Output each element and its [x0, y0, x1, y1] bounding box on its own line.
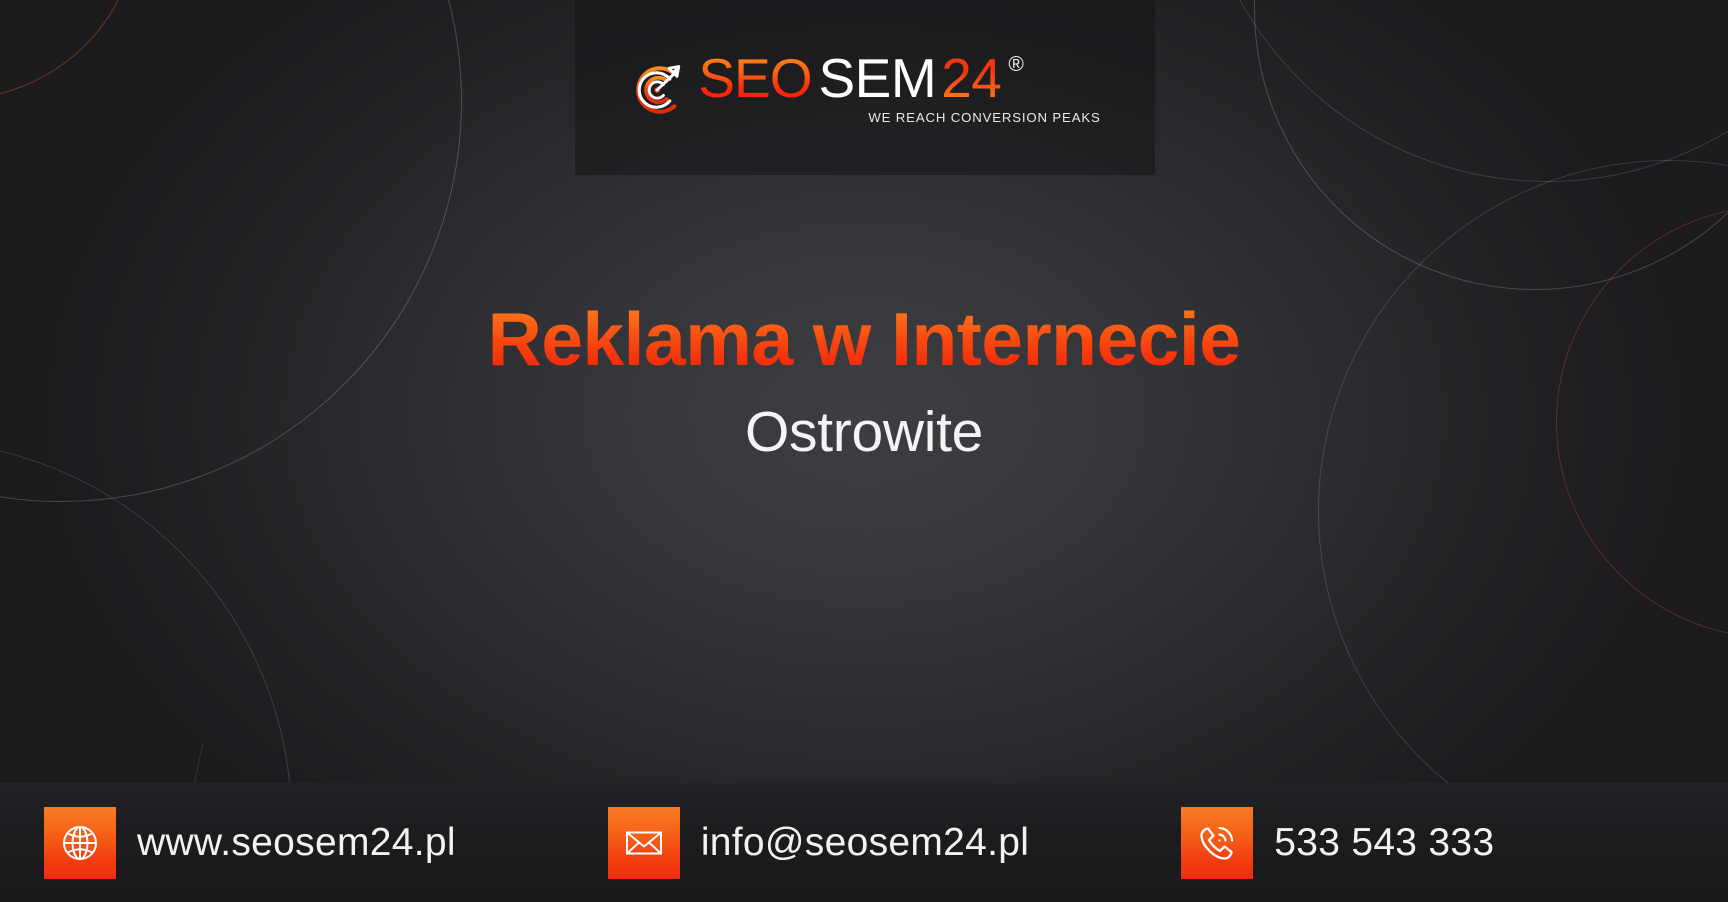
background-circle-decoration: [1254, 0, 1728, 290]
globe-icon: [44, 807, 116, 879]
email-label: info@seosem24.pl: [701, 821, 1029, 865]
logo-tagline: WE REACH CONVERSION PEAKS: [868, 110, 1100, 125]
website-label: www.seosem24.pl: [137, 821, 456, 865]
logo-wordmark: SEO SEM 24 ® WE REACH CONVERSION PEAKS: [698, 51, 1100, 125]
logo-primary-line: SEO SEM 24 ®: [698, 51, 1024, 106]
registered-trademark-icon: ®: [1008, 54, 1023, 75]
envelope-icon: [608, 807, 680, 879]
contact-footer-bar: www.seosem24.pl info@seosem24.pl: [0, 783, 1728, 902]
contact-item-website[interactable]: www.seosem24.pl: [44, 807, 456, 879]
logo-panel: SEO SEM 24 ® WE REACH CONVERSION PEAKS: [575, 0, 1155, 175]
contact-item-phone[interactable]: 533 543 333: [1181, 807, 1494, 879]
contact-item-email[interactable]: info@seosem24.pl: [608, 807, 1029, 879]
logo-number-text: 24: [941, 51, 1001, 106]
page-subtitle: Ostrowite: [0, 403, 1728, 463]
seosem24-logo: SEO SEM 24 ® WE REACH CONVERSION PEAKS: [629, 51, 1100, 125]
phone-label: 533 543 333: [1274, 821, 1494, 865]
logo-seo-text: SEO: [698, 51, 811, 106]
target-dartboard-icon: [629, 61, 687, 119]
hero-section: Reklama w Internecie Ostrowite: [0, 300, 1728, 463]
page-title: Reklama w Internecie: [0, 300, 1728, 379]
promo-slide: SEO SEM 24 ® WE REACH CONVERSION PEAKS R…: [0, 0, 1728, 902]
background-circle-decoration: [1196, 0, 1728, 182]
background-circle-decoration: [0, 0, 140, 100]
background-circle-decoration: [1318, 160, 1728, 862]
logo-sem-text: SEM: [819, 51, 937, 106]
phone-icon: [1181, 807, 1253, 879]
